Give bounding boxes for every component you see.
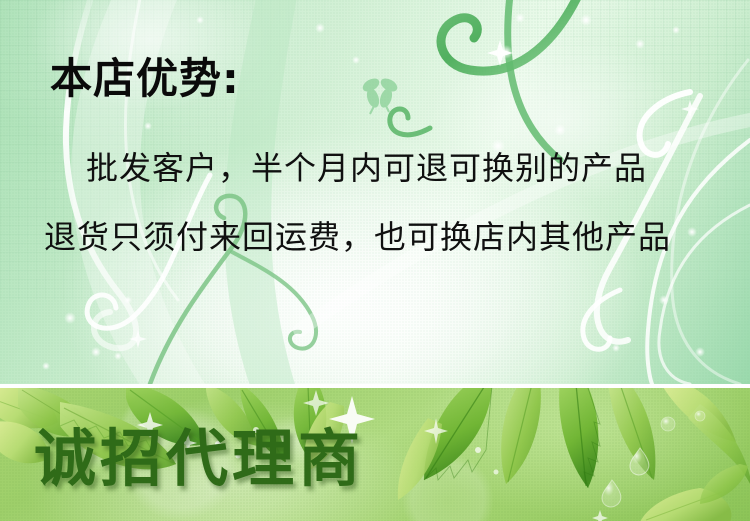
four-petal-flower-icon — [360, 76, 399, 114]
water-droplet-1 — [630, 448, 649, 475]
water-droplet-4 — [695, 411, 705, 421]
white-curl-right-top — [640, 92, 690, 155]
green-vine-curl-center — [232, 252, 316, 349]
bokeh-circle-center — [402, 454, 494, 521]
green-curl-small — [390, 109, 430, 135]
leaf-cluster-right — [398, 388, 750, 500]
cta-headline: 诚招代理商 — [34, 428, 364, 490]
advantage-line-1: 批发客户，半个月内可退可换别的产品 — [86, 152, 647, 184]
promo-banner: 本店优势: 批发客户，半个月内可退可换别的产品 退货只须付来回运费，也可换店内其… — [0, 0, 750, 521]
white-curve-right-2 — [659, 205, 750, 384]
white-curve-right-3 — [672, 60, 748, 384]
leaf-cluster-bottom-right — [640, 464, 748, 521]
green-ribbon-topcenter — [441, 0, 585, 71]
green-ribbon-right — [508, 0, 560, 160]
white-curl-right-bottom — [583, 290, 620, 349]
water-droplet-2 — [602, 480, 621, 507]
advantage-line-2: 退货只须付来回运费，也可换店内其他产品 — [44, 221, 671, 253]
white-curve-right-1 — [647, 140, 750, 384]
agent-recruitment-panel: 诚招代理商 — [0, 388, 750, 521]
advantages-panel: 本店优势: 批发客户，半个月内可退可换别的产品 退货只须付来回运费，也可换店内其… — [0, 0, 750, 384]
page-title: 本店优势: — [50, 58, 240, 100]
water-droplet-3 — [661, 417, 675, 431]
water-droplet-group — [602, 411, 705, 507]
